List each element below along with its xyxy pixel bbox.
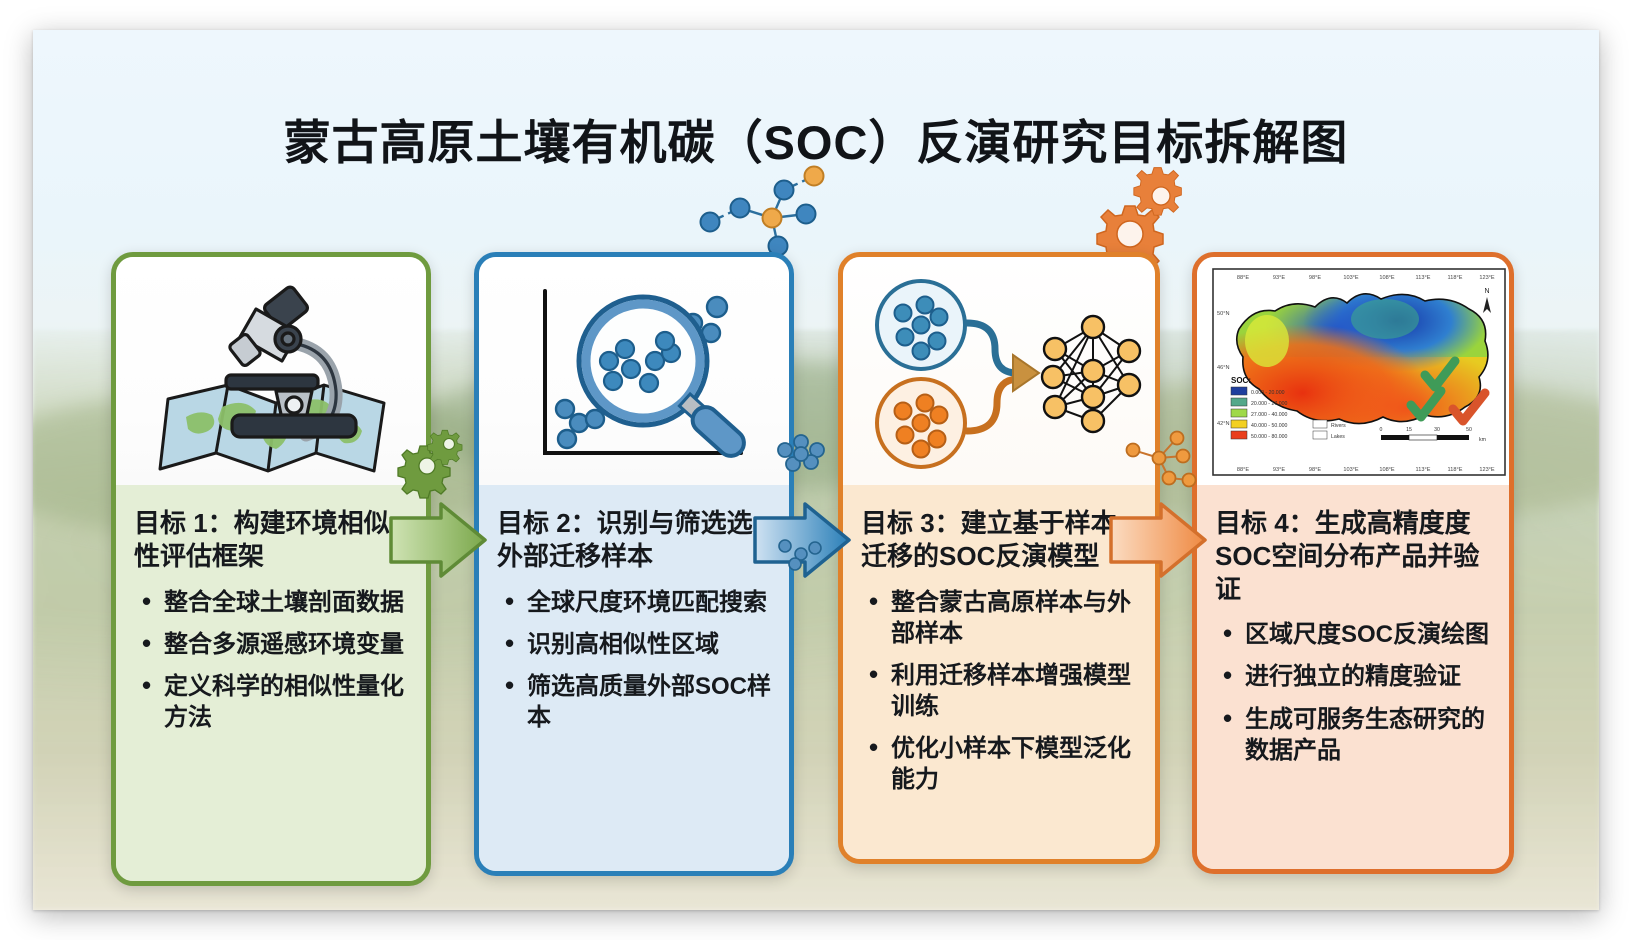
svg-text:108°E: 108°E [1379,467,1395,473]
svg-text:SOC:: SOC: [1231,376,1251,385]
goal-card-4[interactable]: 88°E93°E 98°E103°E 108°E113°E 118°E123°E… [1192,252,1514,874]
svg-text:N: N [1484,288,1489,295]
svg-text:98°E: 98°E [1309,467,1321,473]
svg-text:50: 50 [1466,427,1472,433]
goal-3-bullets: 整合蒙古高原样本与外部样本 利用迁移样本增强模型训练 优化小样本下模型泛化能力 [861,587,1139,796]
list-item: 优化小样本下模型泛化能力 [865,733,1139,795]
list-item: 整合多源遥感环境变量 [138,629,410,660]
svg-text:30: 30 [1434,427,1440,433]
list-item: 利用迁移样本增强模型训练 [865,660,1139,722]
list-item: 生成可服务生态研究的数据产品 [1219,704,1493,766]
svg-text:50.000 - 80.000: 50.000 - 80.000 [1251,434,1287,440]
svg-text:Lakes: Lakes [1331,434,1345,440]
soc-distribution-map-icon: 88°E93°E 98°E103°E 108°E113°E 118°E123°E… [1197,257,1514,485]
goal-4-bullets: 区域尺度SOC反演绘图 进行独立的精度验证 生成可服务生态研究的数据产品 [1215,619,1493,766]
poster-canvas: ✦ ✦ 蒙古高原土壤有机碳（SOC）反演研究目标拆解图 [33,30,1599,910]
svg-text:km: km [1479,437,1486,443]
svg-text:93°E: 93°E [1273,467,1285,473]
svg-text:15: 15 [1406,427,1412,433]
svg-text:113°E: 113°E [1416,467,1431,473]
svg-text:118°E: 118°E [1448,467,1463,473]
list-item: 定义科学的相似性量化方法 [138,671,410,733]
list-item: 筛选高质量外部SOC样本 [501,671,773,733]
svg-text:118°E: 118°E [1448,275,1463,281]
svg-text:108°E: 108°E [1379,275,1395,281]
svg-text:113°E: 113°E [1416,275,1431,281]
connector-node-graph-icon [1125,422,1205,492]
svg-text:88°E: 88°E [1237,275,1249,281]
svg-text:50°N: 50°N [1217,311,1230,317]
list-item: 进行独立的精度验证 [1219,661,1493,692]
svg-text:0: 0 [1380,427,1383,433]
svg-text:40.000 - 50.000: 40.000 - 50.000 [1251,423,1287,429]
svg-text:93°E: 93°E [1273,275,1285,281]
svg-text:103°E: 103°E [1343,275,1359,281]
svg-text:0.000 - 20.000: 0.000 - 20.000 [1251,390,1285,396]
svg-text:88°E: 88°E [1237,467,1249,473]
goal-4-illustration: 88°E93°E 98°E103°E 108°E113°E 118°E123°E… [1197,257,1509,485]
svg-text:27.000 - 40.000: 27.000 - 40.000 [1251,412,1287,418]
connector-gears-icon [401,430,471,490]
svg-text:Rivers: Rivers [1331,423,1346,429]
svg-text:46°N: 46°N [1217,365,1230,371]
goal-4-heading: 目标 4：生成高精度度SOC空间分布产品并验证 [1215,507,1493,605]
svg-text:123°E: 123°E [1479,275,1495,281]
connector-sample-dots-icon [773,428,833,478]
svg-text:123°E: 123°E [1479,467,1495,473]
list-item: 识别高相似性区域 [501,629,773,660]
svg-text:103°E: 103°E [1343,467,1359,473]
svg-text:20.000 - 27.000: 20.000 - 27.000 [1251,401,1287,407]
list-item: 区域尺度SOC反演绘图 [1219,619,1493,650]
svg-text:98°E: 98°E [1309,275,1321,281]
svg-text:42°N: 42°N [1217,421,1230,427]
